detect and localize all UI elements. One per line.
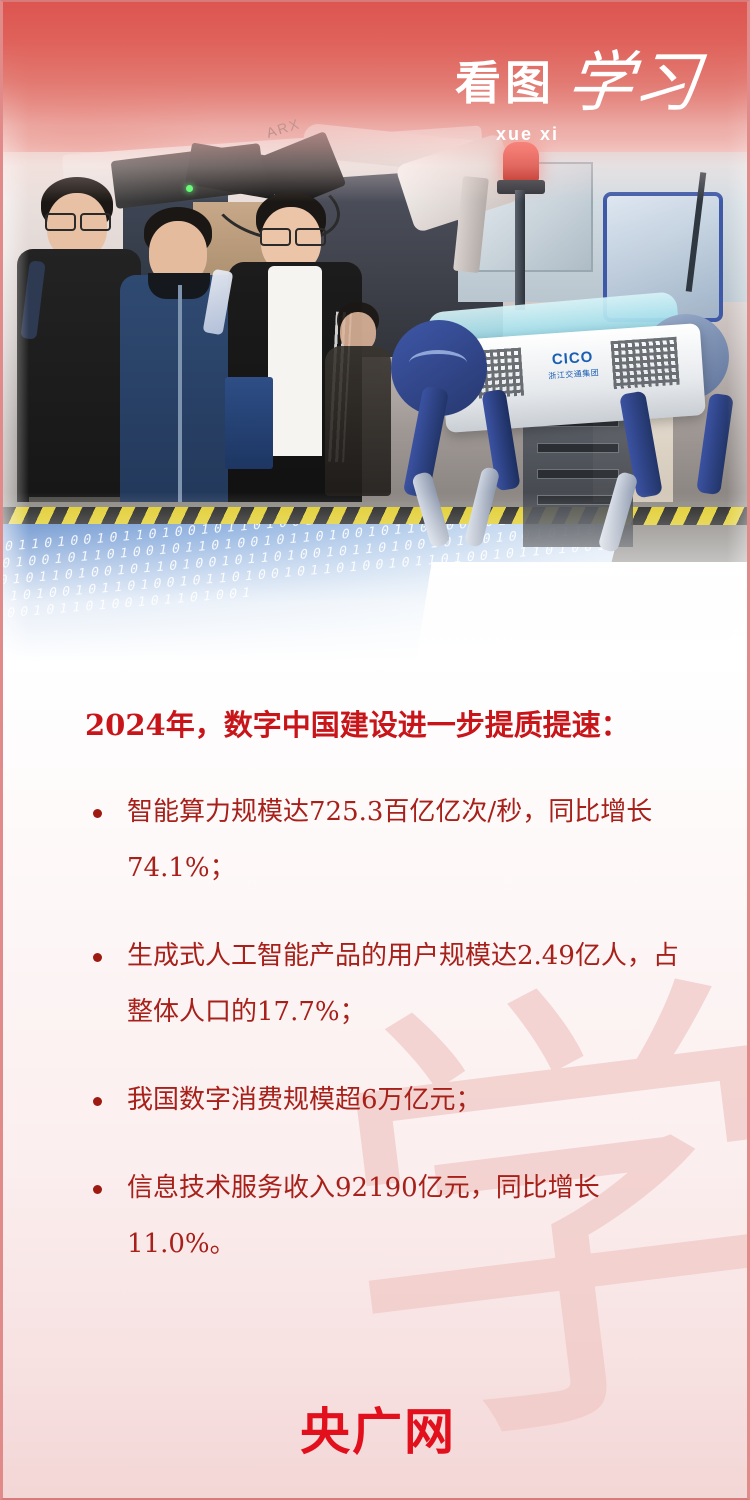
list-item: 智能算力规模达725.3百亿亿次/秒，同比增长74.1%； <box>85 784 691 896</box>
rack-slot <box>537 443 619 453</box>
robot-dog-branding: CICO 浙江交通集团 <box>537 348 609 383</box>
rack-slot <box>537 469 619 479</box>
visitor-background <box>323 302 393 502</box>
tote-bag <box>225 377 273 469</box>
jacket-zipper <box>178 285 182 515</box>
brand-lockup: 看图 学习 xue xi <box>455 50 699 145</box>
brand-kantu-text: 看图 <box>455 60 555 106</box>
rack-slot <box>537 495 619 505</box>
page-title: 2024年，数字中国建设进一步提质提速： <box>85 702 691 744</box>
list-item: 生成式人工智能产品的用户规模达2.49亿人，占整体人口的17.7%； <box>85 928 691 1040</box>
cico-logo-text: CICO <box>537 348 608 370</box>
list-item: 我国数字消费规模超6万亿元； <box>85 1072 691 1128</box>
content-block: 2024年，数字中国建设进一步提质提速： 智能算力规模达725.3百亿亿次/秒，… <box>3 702 750 1304</box>
beacon-mast <box>515 190 525 310</box>
arx-brand-label: ARX <box>264 115 302 140</box>
glasses-icon <box>260 228 326 242</box>
list-item: 信息技术服务收入92190亿元，同比增长11.0%。 <box>85 1160 691 1272</box>
cico-logo-subtext: 浙江交通集团 <box>538 367 609 383</box>
cnr-logo: 央广网 <box>300 1392 456 1464</box>
brand-title-row: 看图 学习 <box>455 50 699 116</box>
footer: 央广网 <box>3 1358 750 1498</box>
robot-dog-vent <box>611 337 680 389</box>
brand-xuexi-calligraphy: 学习 <box>564 50 703 116</box>
visitor-torso <box>325 346 391 496</box>
visitor-white-shirt <box>268 266 322 456</box>
safety-stripe <box>3 507 750 525</box>
poster: 学 ARX <box>0 0 750 1500</box>
robot-arm-led-indicator <box>186 185 193 192</box>
white-podium <box>414 562 750 662</box>
warning-beacon-light <box>503 142 539 182</box>
glasses-icon <box>45 213 111 227</box>
brand-pinyin: xue xi <box>455 124 559 145</box>
statistics-list: 智能算力规模达725.3百亿亿次/秒，同比增长74.1%； 生成式人工智能产品的… <box>85 784 691 1272</box>
